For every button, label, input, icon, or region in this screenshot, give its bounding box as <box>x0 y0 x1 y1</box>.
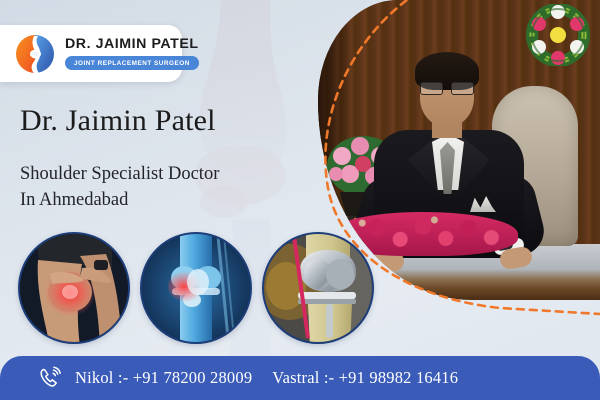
subtitle-line-1: Shoulder Specialist Doctor <box>20 162 219 188</box>
contact-info: Nikol :- +91 78200 28009 Vastral :- +91 … <box>75 368 458 388</box>
page-subtitle: Shoulder Specialist Doctor In Ahmedabad <box>20 162 219 213</box>
logo-card[interactable]: DR. JAIMIN PATEL JOINT REPLACEMENT SURGE… <box>0 25 182 82</box>
contact-phone-nikol[interactable]: +91 78200 28009 <box>133 368 253 388</box>
contact-bar: Nikol :- +91 78200 28009 Vastral :- +91 … <box>0 356 600 400</box>
logo-name: DR. JAIMIN PATEL <box>65 37 199 51</box>
thumbnail-row <box>0 232 380 344</box>
subtitle-line-2: In Ahmedabad <box>20 188 219 214</box>
eyeglasses-icon <box>420 82 474 93</box>
contact-label-vastral: Vastral :- <box>272 368 334 388</box>
phone-call-icon <box>38 366 62 390</box>
contact-phone-vastral[interactable]: +91 98982 16416 <box>339 368 459 388</box>
thumbnail-knee-implant-illustration[interactable] <box>262 232 374 344</box>
contact-label-nikol: Nikol :- <box>75 368 128 388</box>
logo-badge: JOINT REPLACEMENT SURGEON <box>65 56 199 69</box>
thumbnail-knee-anatomy-illustration[interactable] <box>140 232 252 344</box>
page-title: Dr. Jaimin Patel <box>20 104 216 137</box>
floral-wreath-icon <box>524 4 592 66</box>
advertisement-banner: DR. JAIMIN PATEL JOINT REPLACEMENT SURGE… <box>0 0 600 400</box>
thumbnail-knee-pain-photo[interactable] <box>18 232 130 344</box>
joint-bone-circle-logo-icon <box>14 33 56 75</box>
